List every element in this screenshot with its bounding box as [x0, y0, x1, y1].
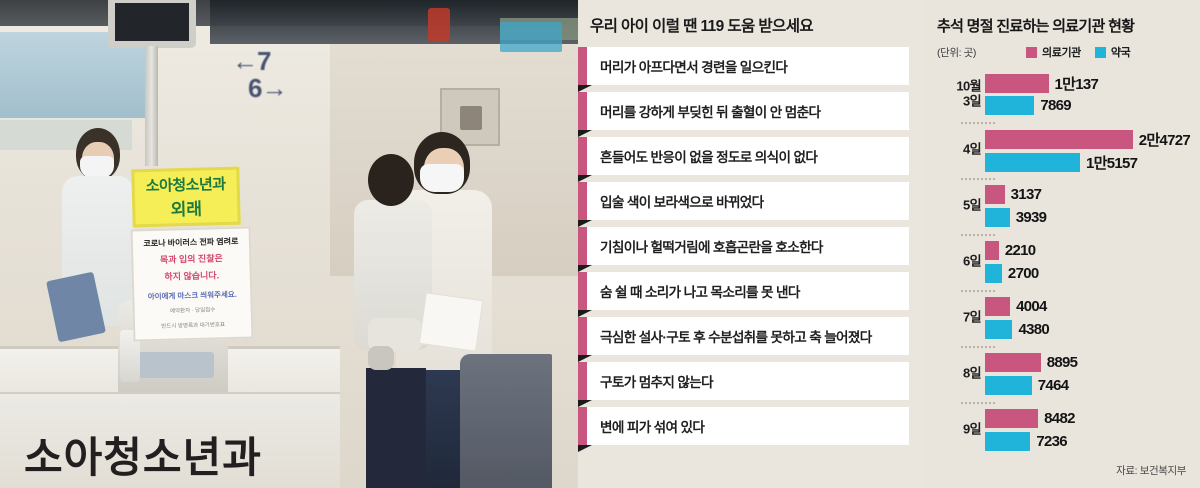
- covid-sign-line-1: 코로나 바이러스 전파 염려로: [139, 236, 243, 250]
- list-item[interactable]: 흔들어도 반응이 없을 정도로 의식이 없다: [578, 137, 909, 175]
- chart-bar-value: 7464: [1038, 377, 1069, 394]
- pediatrics-yellow-sign: 소아청소년과 외래: [131, 167, 240, 228]
- chart-bar-row: 3939: [985, 208, 1190, 227]
- chart-legend: 의료기관 약국: [1026, 44, 1130, 60]
- chart-bar-medical: [985, 130, 1133, 149]
- chart-bar-medical: [985, 241, 999, 260]
- list-item[interactable]: 머리가 아프다면서 경련을 일으킨다: [578, 47, 909, 85]
- yellow-sign-line-1: 소아청소년과: [146, 173, 226, 196]
- hospital-photo: ←7 6→: [0, 0, 578, 488]
- legend-swatch-medical-icon: [1026, 47, 1037, 58]
- chart-bar-pharmacy: [985, 208, 1010, 227]
- chart-source-note: 자료: 보건복지부: [1116, 463, 1186, 478]
- chart-bar-row: 2700: [985, 264, 1190, 283]
- wayfinding-left-label: ←7: [232, 46, 270, 76]
- legend-item-medical: 의료기관: [1026, 44, 1081, 60]
- chart-bar-rows: 10월3일1만13778694일2만47271만51575일313739396일…: [937, 66, 1190, 458]
- chart-bar-pharmacy: [985, 96, 1034, 115]
- chart-bar-value: 8895: [1047, 354, 1078, 371]
- chart-bar-value: 4380: [1018, 321, 1049, 338]
- emergency-list-panel: 우리 아이 이럴 땐 119 도움 받으세요 머리가 아프다면서 경련을 일으킨…: [578, 0, 923, 488]
- yellow-sign-line-2: 외래: [170, 195, 202, 221]
- chart-bar-value: 2210: [1005, 242, 1036, 259]
- chart-category-label: 6일: [937, 255, 981, 270]
- group-separator: [961, 122, 995, 124]
- photo-monitor: [108, 0, 196, 48]
- chart-bar-row: 8482: [985, 409, 1190, 428]
- chart-bar-medical: [985, 409, 1038, 428]
- chart-bar-pharmacy: [985, 264, 1002, 283]
- chart-bar-medical: [985, 353, 1041, 372]
- list-item-label: 변에 피가 섞여 있다: [587, 407, 909, 445]
- list-item-label: 입술 색이 보라색으로 바뀌었다: [587, 182, 909, 220]
- photo-patient-figures: [352, 118, 552, 488]
- chart-category-label: 10월3일: [937, 79, 981, 108]
- group-separator: [961, 178, 995, 180]
- legend-swatch-pharmacy-icon: [1095, 47, 1106, 58]
- chart-category-label: 9일: [937, 423, 981, 438]
- chart-bar-row: 4380: [985, 320, 1190, 339]
- chart-bar-row: 2만4727: [985, 129, 1190, 150]
- chart-bar-pharmacy: [985, 320, 1012, 339]
- list-panel-title: 우리 아이 이럴 땐 119 도움 받으세요: [578, 0, 909, 47]
- chart-unit-label: (단위: 곳): [937, 45, 976, 60]
- chart-bar-row: 1만5157: [985, 152, 1190, 173]
- chart-bar-medical: [985, 185, 1005, 204]
- chart-bar-row: 2210: [985, 241, 1190, 260]
- chart-category-label: 4일: [937, 143, 981, 158]
- desk-caption: 소아청소년과: [24, 424, 262, 485]
- chart-bar-row: 7236: [985, 432, 1190, 451]
- list-item-label: 머리를 강하게 부딪힌 뒤 출혈이 안 멈춘다: [587, 92, 909, 130]
- chart-bar-medical: [985, 74, 1049, 93]
- list-item[interactable]: 극심한 설사·구토 후 수분섭취를 못하고 축 늘어졌다: [578, 317, 909, 355]
- child-mitten: [368, 346, 394, 370]
- legend-label-pharmacy: 약국: [1111, 44, 1130, 60]
- chart-category-label: 5일: [937, 199, 981, 214]
- chart-bar-row: 1만137: [985, 73, 1190, 94]
- chart-bar-value: 7869: [1040, 97, 1071, 114]
- list-item-label: 숨 쉴 때 소리가 나고 목소리를 못 낸다: [587, 272, 909, 310]
- covid-sign-line-5: 예약환자 · 당일접수: [141, 305, 245, 317]
- emergency-symptom-list: 머리가 아프다면서 경련을 일으킨다머리를 강하게 부딪힌 뒤 출혈이 안 멈춘…: [578, 47, 909, 445]
- chart-subheader: (단위: 곳) 의료기관 약국: [937, 45, 1190, 59]
- infographic-root: ←7 6→: [0, 0, 1200, 488]
- photo-cyan-sign: [500, 22, 562, 52]
- covid-sign-line-2: 목과 입의 진찰은: [139, 251, 243, 267]
- coat: [460, 354, 552, 488]
- child-head: [368, 154, 414, 206]
- chart-bar-value: 2700: [1008, 265, 1039, 282]
- group-separator: [961, 346, 995, 348]
- list-item[interactable]: 머리를 강하게 부딪힌 뒤 출혈이 안 멈춘다: [578, 92, 909, 130]
- chart-group: 5일31373939: [937, 178, 1190, 234]
- list-item[interactable]: 기침이나 헐떡거림에 호흡곤란을 호소한다: [578, 227, 909, 265]
- group-separator: [961, 402, 995, 404]
- list-item-label: 구토가 멈추지 않는다: [587, 362, 909, 400]
- legend-item-pharmacy: 약국: [1095, 44, 1130, 60]
- list-item[interactable]: 입술 색이 보라색으로 바뀌었다: [578, 182, 909, 220]
- wayfinding-sign: ←7 6→: [232, 48, 286, 103]
- chart-group: 10월3일1만1377869: [937, 66, 1190, 122]
- chart-bar-value: 8482: [1044, 410, 1075, 427]
- covid-sign-line-6: 반드시 방명록과 대기번호표: [141, 320, 245, 332]
- list-item-label: 머리가 아프다면서 경련을 일으킨다: [587, 47, 909, 85]
- chart-category-label: 7일: [937, 311, 981, 326]
- photo-monitor-arm: [145, 46, 158, 166]
- chart-bar-value: 1만137: [1055, 73, 1099, 94]
- chart-bar-value: 4004: [1016, 298, 1047, 315]
- chart-group: 6일22102700: [937, 234, 1190, 290]
- list-item-label: 기침이나 헐떡거림에 호흡곤란을 호소한다: [587, 227, 909, 265]
- chart-bar-value: 7236: [1036, 433, 1067, 450]
- chart-group: 4일2만47271만5157: [937, 122, 1190, 178]
- wayfinding-right-label: 6→: [232, 75, 286, 102]
- group-separator: [961, 234, 995, 236]
- list-item[interactable]: 변에 피가 섞여 있다: [578, 407, 909, 445]
- chart-bar-value: 3137: [1011, 186, 1042, 203]
- covid-sign-line-4: 아이에게 마스크 씌워주세요.: [140, 288, 244, 302]
- group-separator: [961, 290, 995, 292]
- chart-bar-medical: [985, 297, 1010, 316]
- list-item[interactable]: 숨 쉴 때 소리가 나고 목소리를 못 낸다: [578, 272, 909, 310]
- legend-label-medical: 의료기관: [1042, 44, 1081, 60]
- photo-red-sign: [428, 8, 450, 42]
- list-item[interactable]: 구토가 멈추지 않는다: [578, 362, 909, 400]
- child-legs: [366, 368, 426, 488]
- list-item-label: 흔들어도 반응이 없을 정도로 의식이 없다: [587, 137, 909, 175]
- chart-bar-value: 1만5157: [1086, 152, 1137, 173]
- list-item-label: 극심한 설사·구토 후 수분섭취를 못하고 축 늘어졌다: [587, 317, 909, 355]
- chart-bar-pharmacy: [985, 376, 1032, 395]
- chart-title: 추석 명절 진료하는 의료기관 현황: [937, 0, 1190, 36]
- chart-bar-row: 7869: [985, 96, 1190, 115]
- chart-bar-pharmacy: [985, 153, 1080, 172]
- covid-notice-sign: 코로나 바이러스 전파 염려로 목과 입의 진찰은 하지 않습니다. 아이에게 …: [131, 226, 254, 341]
- covid-sign-line-3: 하지 않습니다.: [140, 269, 244, 285]
- chart-group: 9일84827236: [937, 402, 1190, 458]
- chart-bar-row: 3137: [985, 185, 1190, 204]
- chart-bar-row: 8895: [985, 353, 1190, 372]
- nurse-mask: [80, 156, 114, 178]
- chart-bar-value: 3939: [1016, 209, 1047, 226]
- chart-group: 8일88957464: [937, 346, 1190, 402]
- chart-category-label: 8일: [937, 367, 981, 382]
- chart-bar-row: 7464: [985, 376, 1190, 395]
- chart-group: 7일40044380: [937, 290, 1190, 346]
- photo-top-strip: [0, 0, 578, 26]
- chart-bar-row: 4004: [985, 297, 1190, 316]
- chart-bar-value: 2만4727: [1139, 129, 1190, 150]
- chart-panel: 추석 명절 진료하는 의료기관 현황 (단위: 곳) 의료기관 약국 10월3일…: [923, 0, 1200, 488]
- chart-bar-pharmacy: [985, 432, 1030, 451]
- adult-mask: [420, 164, 464, 192]
- held-paper: [419, 292, 484, 352]
